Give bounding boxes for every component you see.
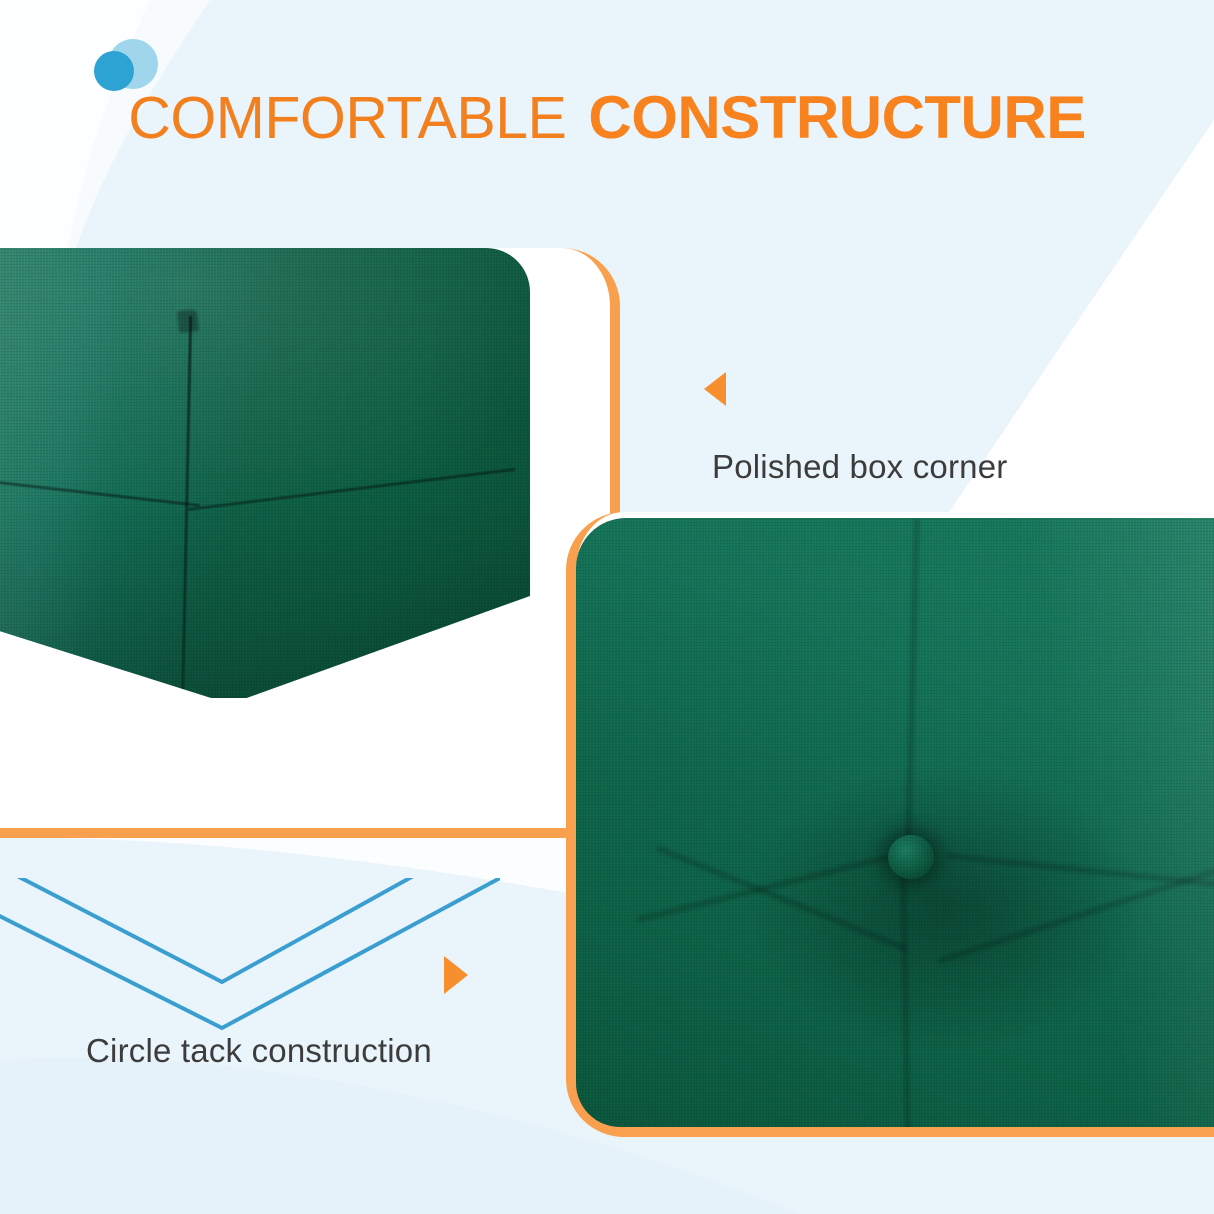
fabric-weave-texture <box>576 518 1214 1127</box>
page-title-bold: CONSTRUCTURE <box>588 83 1085 152</box>
triangle-left-icon <box>704 372 726 406</box>
callout-circle-label: Circle tack construction <box>86 1032 468 1070</box>
panel-polished-box-corner <box>0 248 620 838</box>
infographic-canvas: COMFORTABLE CONSTRUCTURE <box>0 0 1214 1214</box>
panel-circle-tack <box>566 512 1214 1137</box>
callout-circle-tack: Circle tack construction <box>86 956 468 1070</box>
triangle-right-icon <box>444 956 468 994</box>
header-title-group: COMFORTABLE CONSTRUCTURE <box>128 83 1085 152</box>
photo-circle-tack <box>576 518 1214 1127</box>
page-header: COMFORTABLE CONSTRUCTURE <box>0 62 1214 172</box>
page-title-light: COMFORTABLE <box>128 84 566 152</box>
callout-polished-box-corner: Polished box corner <box>704 372 1007 486</box>
callout-polished-label: Polished box corner <box>712 448 1007 486</box>
photo-polished-box-corner <box>0 248 530 698</box>
